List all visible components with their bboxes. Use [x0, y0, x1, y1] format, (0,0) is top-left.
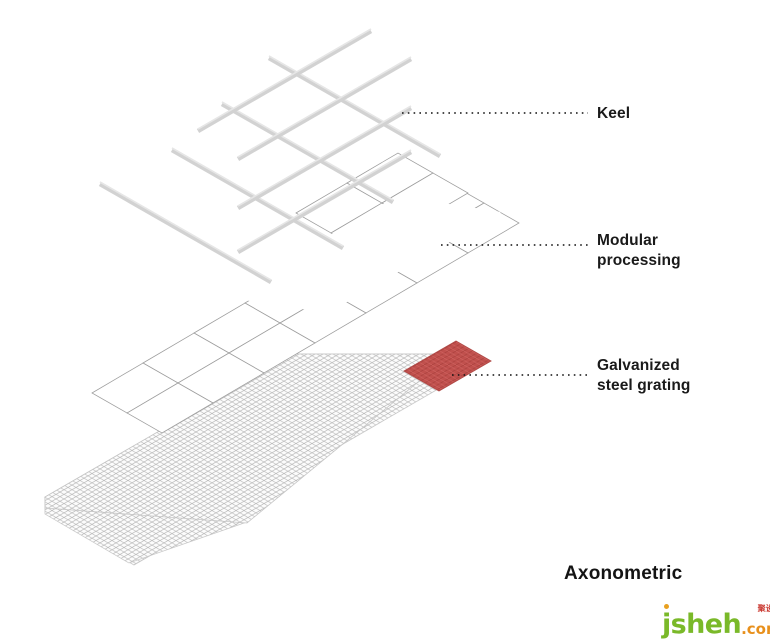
- callout-label-modular-processing: Modular processing: [597, 231, 681, 272]
- watermark-chinese-text: 聚设汇: [758, 605, 770, 613]
- watermark-tld: .com: [741, 622, 770, 637]
- watermark-logo: jsheh .com 聚设汇: [662, 606, 770, 638]
- watermark-brand: jsheh: [662, 609, 741, 640]
- watermark-dot-icon: [664, 604, 669, 609]
- exploded-axonometric-svg: [0, 0, 770, 643]
- callout-label-galvanized-steel-grating: Galvanized steel grating: [597, 356, 690, 397]
- keel-bar: [198, 31, 371, 131]
- axonometric-diagram-canvas: Keel Modular processing Galvanized steel…: [0, 0, 770, 643]
- diagram-title: Axonometric: [564, 563, 682, 585]
- watermark-brand-text: jsheh: [662, 611, 741, 638]
- keel-bar: [100, 184, 271, 282]
- keel-bar: [238, 59, 411, 159]
- layer-galvanized-steel-grating: [45, 341, 491, 565]
- callout-label-keel: Keel: [597, 104, 630, 124]
